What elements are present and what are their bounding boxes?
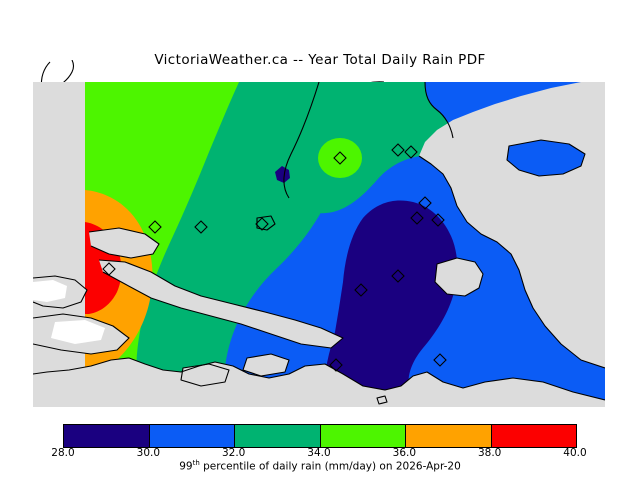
colorbar-band-4[interactable] (406, 425, 492, 447)
colorbar-tick-4: 36.0 (393, 447, 416, 459)
colorbar-band-0[interactable] (64, 425, 150, 447)
colorbar-tick-2: 32.0 (222, 447, 245, 459)
contour-map[interactable] (33, 82, 605, 407)
caption-rest: percentile of daily rain (mm/day) on 202… (200, 461, 461, 473)
colorbar-tick-6: 40.0 (563, 447, 586, 459)
band-34-36-ne-blob (318, 138, 362, 178)
caption-superscript: th (193, 459, 200, 467)
colorbar-band-2[interactable] (235, 425, 321, 447)
colorbar-band-1[interactable] (150, 425, 236, 447)
colorbar-caption: 99th percentile of daily rain (mm/day) o… (0, 459, 640, 473)
map-panel[interactable] (33, 82, 605, 407)
colorbar-tick-0: 28.0 (51, 447, 74, 459)
colorbar-tick-1: 30.0 (137, 447, 160, 459)
colorbar-tick-5: 38.0 (478, 447, 501, 459)
colorbar[interactable] (63, 424, 577, 448)
colorbar-tick-3: 34.0 (307, 447, 330, 459)
colorbar-band-5[interactable] (492, 425, 577, 447)
caption-prefix: 99 (179, 461, 192, 473)
colorbar-band-3[interactable] (321, 425, 407, 447)
